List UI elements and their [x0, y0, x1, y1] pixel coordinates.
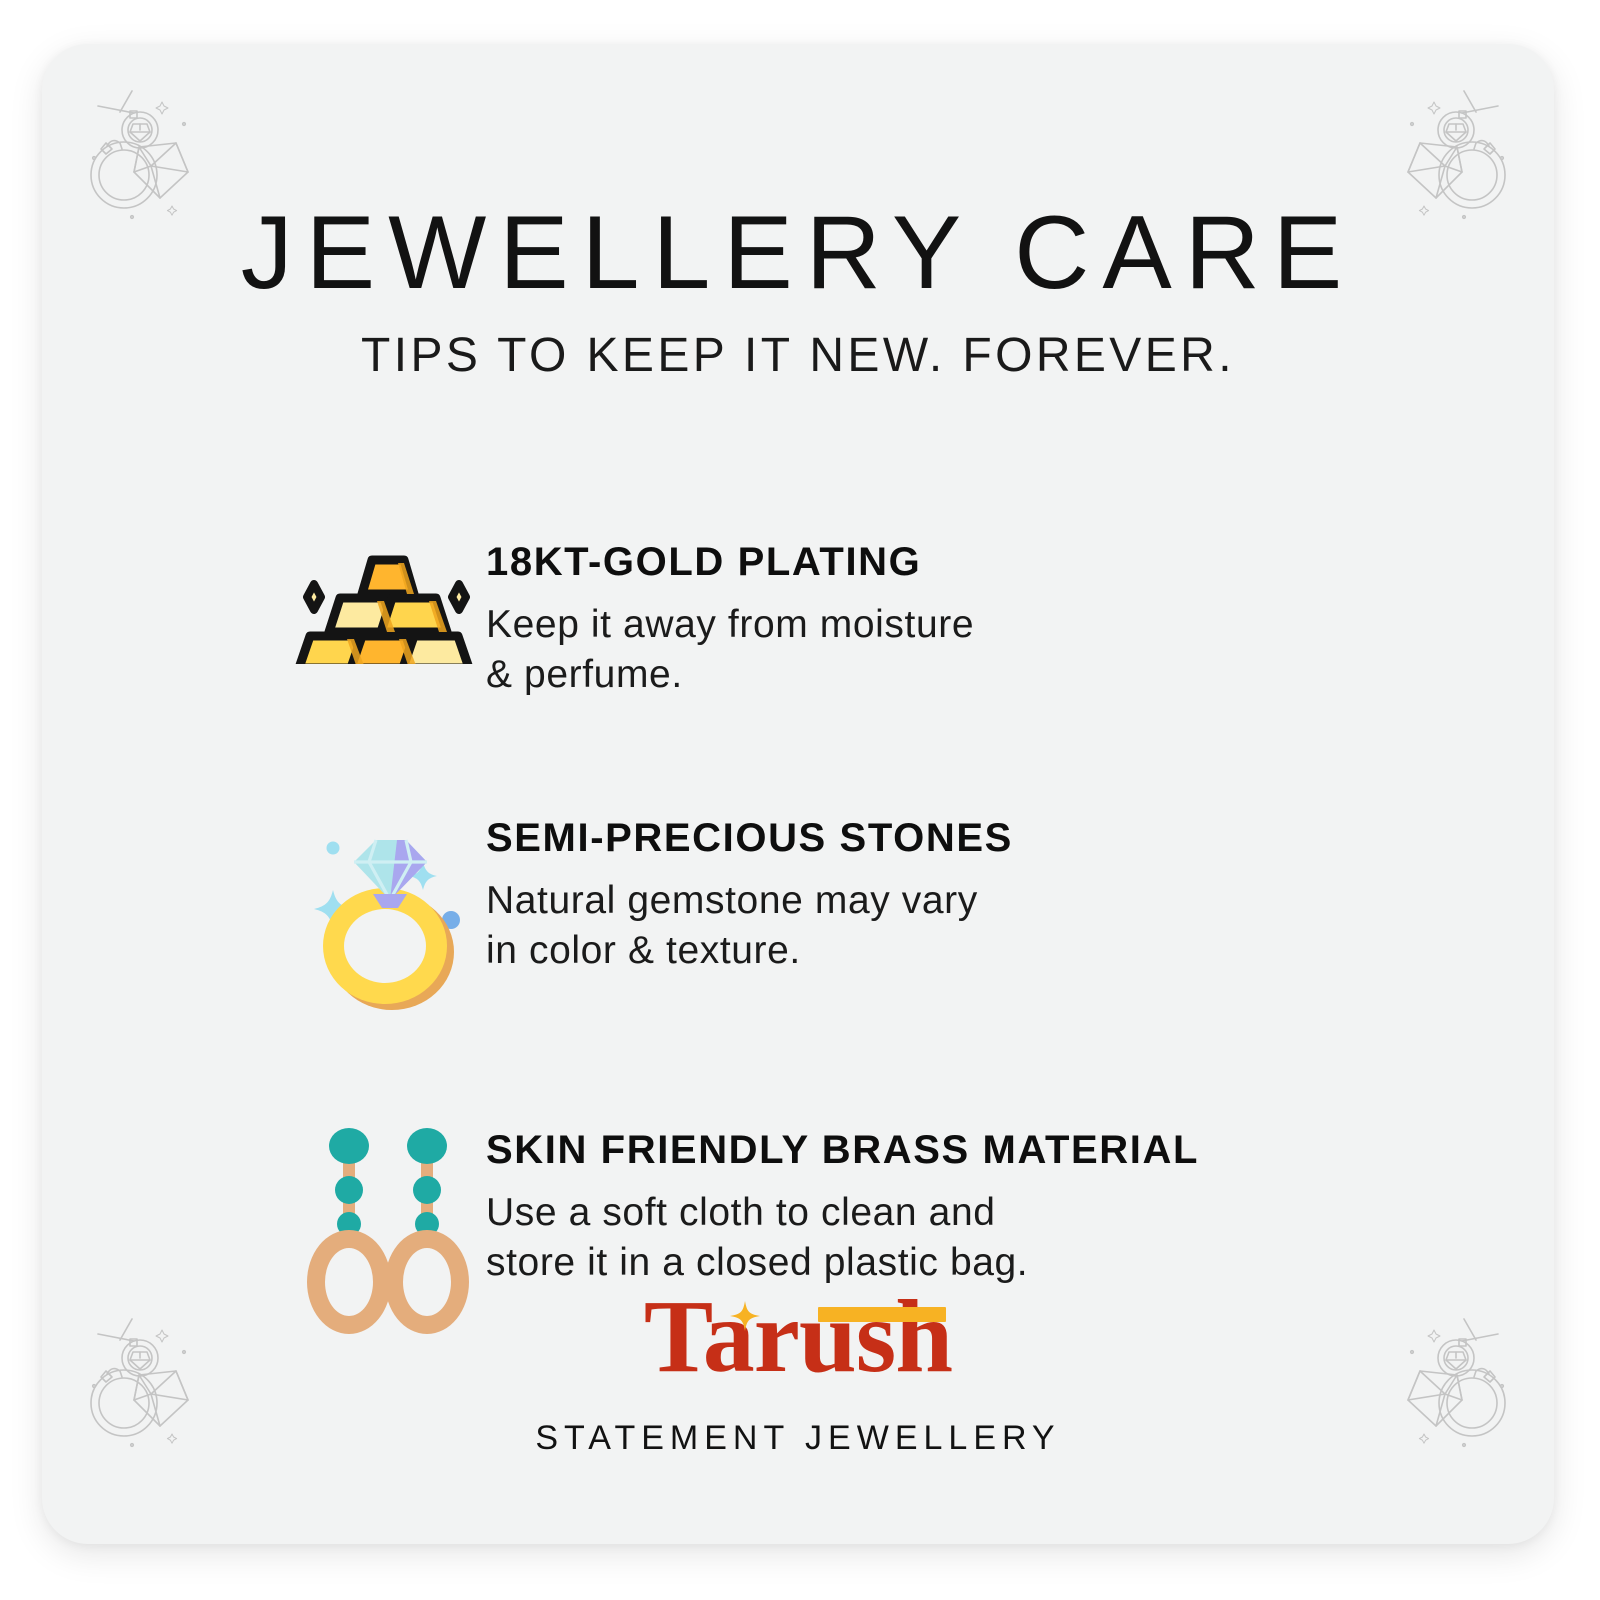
tip-heading: SKIN FRIENDLY BRASS MATERIAL: [486, 1128, 1199, 1172]
care-tips-list: 18KT-GOLD PLATING Keep it away from mois…: [290, 536, 1490, 1334]
footer: Tarush STATEMENT JEWELLERY: [42, 1281, 1554, 1458]
tip-description: Use a soft cloth to clean and store it i…: [486, 1188, 1199, 1288]
tip-heading: SEMI-PRECIOUS STONES: [486, 816, 1013, 860]
care-card: JEWELLERY CARE TIPS TO KEEP IT NEW. FORE…: [42, 44, 1554, 1544]
brand-name: Tarush: [644, 1279, 952, 1394]
logo-gold-bar-accent: [818, 1307, 946, 1322]
page-title: JEWELLERY CARE: [42, 200, 1554, 306]
tip-description: Keep it away from moisture & perfume.: [486, 600, 974, 700]
brand-tagline: STATEMENT JEWELLERY: [42, 1419, 1554, 1458]
tip-description: Natural gemstone may vary in color & tex…: [486, 876, 1013, 976]
infographic-canvas: JEWELLERY CARE TIPS TO KEEP IT NEW. FORE…: [0, 0, 1600, 1600]
list-item: SEMI-PRECIOUS STONES Natural gemstone ma…: [290, 812, 1490, 1012]
tip-heading: 18KT-GOLD PLATING: [486, 540, 974, 584]
page-subtitle: TIPS TO KEEP IT NEW. FOREVER.: [42, 328, 1554, 383]
tip-text-block: SEMI-PRECIOUS STONES Natural gemstone ma…: [486, 812, 1013, 976]
brand-logo: Tarush: [644, 1281, 952, 1393]
tip-text-block: 18KT-GOLD PLATING Keep it away from mois…: [486, 536, 974, 700]
sparkle-icon: [730, 1301, 760, 1331]
diamond-ring-icon: [290, 812, 486, 1012]
list-item: 18KT-GOLD PLATING Keep it away from mois…: [290, 536, 1490, 700]
gold-bars-icon: [290, 536, 486, 664]
header: JEWELLERY CARE TIPS TO KEEP IT NEW. FORE…: [42, 200, 1554, 383]
tip-text-block: SKIN FRIENDLY BRASS MATERIAL Use a soft …: [486, 1124, 1199, 1288]
